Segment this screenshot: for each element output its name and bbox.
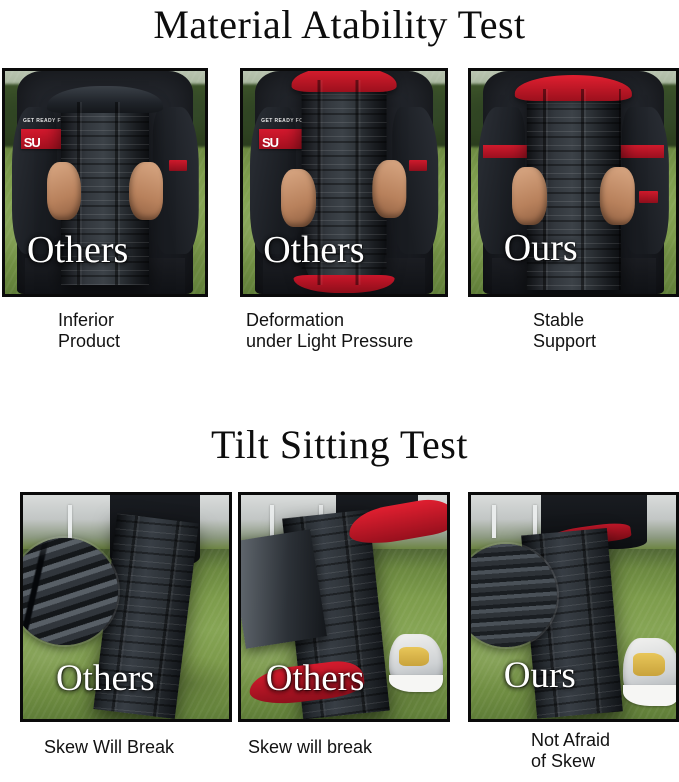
section-title-tilt: Tilt Sitting Test xyxy=(0,422,679,468)
roadside-post xyxy=(492,505,496,538)
panel-tilt-others-1[interactable]: Others xyxy=(20,492,232,722)
hand-left xyxy=(512,167,547,225)
panel-photo: Ours xyxy=(471,71,676,294)
bucket-red-collar xyxy=(291,71,396,92)
magnifier-inset-intact xyxy=(471,544,557,647)
panel-photo: Ours xyxy=(471,495,676,719)
hand-right xyxy=(129,162,163,220)
sneaker-stripe xyxy=(633,653,665,676)
jacket-logo-top-text: GET READY FOR xyxy=(261,118,307,124)
panel-tag-label: Others xyxy=(263,231,364,269)
jacket-arm-patch xyxy=(169,160,187,171)
magnifier-content xyxy=(471,544,557,647)
panel-photo: Others xyxy=(241,495,447,719)
panel-tilt-ours[interactable]: Ours xyxy=(468,492,679,722)
hand-right xyxy=(372,160,406,218)
jacket-arm-patch xyxy=(639,191,657,202)
panel-photo: GET READY FOR SU Others xyxy=(5,71,205,294)
caption-material-1: Inferior Product xyxy=(58,310,120,352)
sneaker xyxy=(389,634,443,692)
roadside-post xyxy=(68,505,72,538)
caption-tilt-3: Not Afraid of Skew xyxy=(531,730,610,772)
magnifier-content xyxy=(23,538,118,646)
panel-tag-label: Others xyxy=(27,231,128,269)
jacket-chest-patch: SU xyxy=(259,129,305,149)
caption-material-3: Stable Support xyxy=(533,310,596,352)
jacket-arm-patch xyxy=(409,160,427,171)
panel-tag-label: Ours xyxy=(504,229,578,267)
roadside-post xyxy=(533,505,537,538)
panel-tilt-others-2[interactable]: Others xyxy=(238,492,450,722)
caption-tilt-1: Skew Will Break xyxy=(44,737,174,758)
panel-material-ours[interactable]: Ours xyxy=(468,68,679,297)
section-title-material: Material Atability Test xyxy=(0,2,679,48)
hand-left xyxy=(47,162,81,220)
panel-tag-label: Ours xyxy=(504,657,576,694)
panel-photo: Others xyxy=(23,495,229,719)
panel-photo: GET READY FOR SU Others xyxy=(243,71,445,294)
caption-material-2: Deformation under Light Pressure xyxy=(246,310,413,352)
roadside-post xyxy=(270,505,274,538)
hand-left xyxy=(281,169,315,227)
sneaker xyxy=(623,638,676,705)
panel-tag-label: Others xyxy=(56,660,155,697)
panel-tag-label: Others xyxy=(266,660,365,697)
panel-material-others-2[interactable]: GET READY FOR SU Others xyxy=(240,68,448,297)
panel-material-others-1[interactable]: GET READY FOR SU Others xyxy=(2,68,208,297)
hand-right xyxy=(600,167,635,225)
magnifier-inset-broken xyxy=(23,538,118,646)
sneaker-stripe xyxy=(399,647,429,667)
jacket-logo-text: SU xyxy=(262,136,278,149)
jacket-logo-text: SU xyxy=(24,136,40,149)
caption-tilt-2: Skew will break xyxy=(248,737,372,758)
